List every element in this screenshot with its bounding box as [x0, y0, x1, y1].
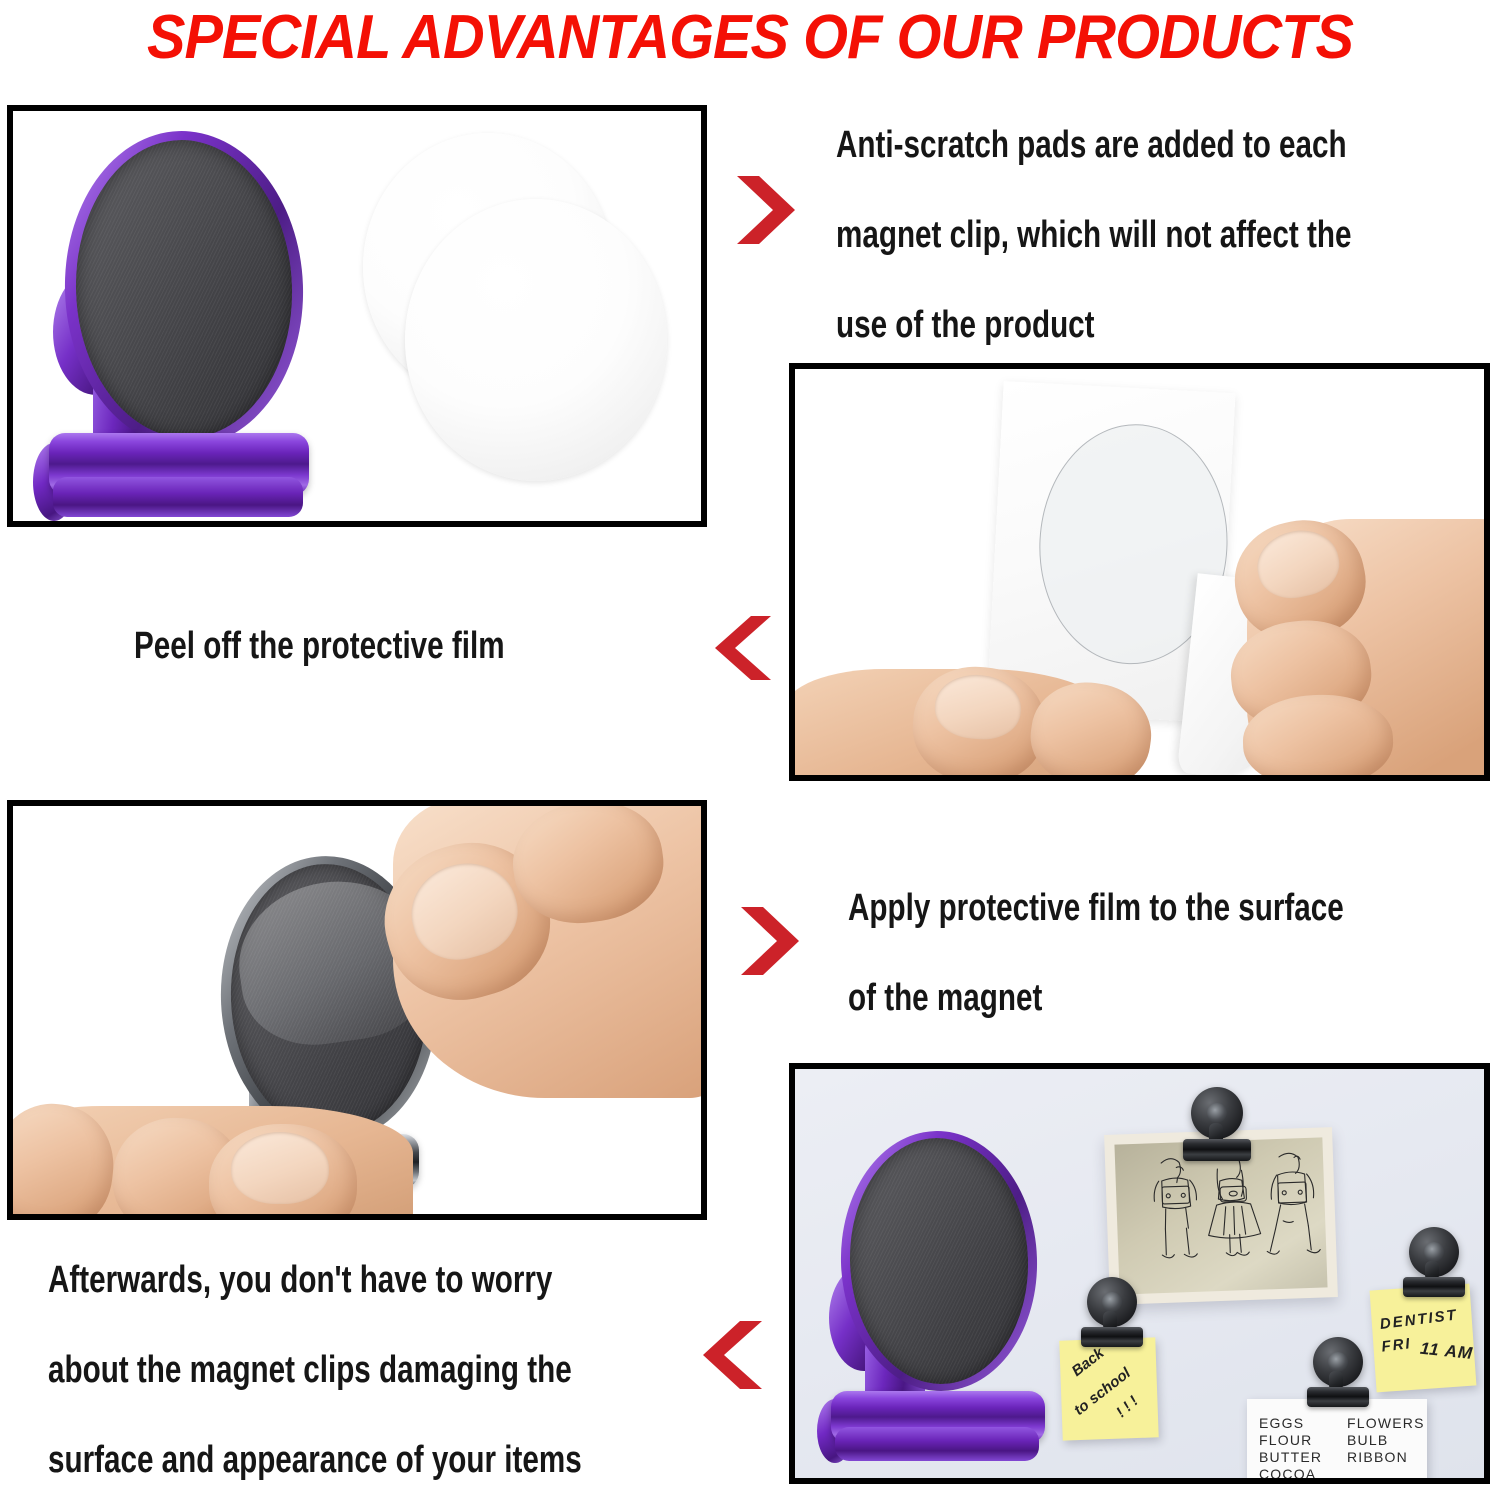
caption-step-2: Peel off the protective film — [134, 601, 758, 691]
photo-panel-step-2 — [789, 363, 1490, 781]
product-photo-clip-and-pads — [13, 111, 701, 521]
chevron-left-icon — [713, 612, 775, 684]
caption-line: Peel off the protective film — [134, 601, 758, 691]
shopping-list-item: COCOA — [1259, 1466, 1356, 1483]
product-photo-applying-film — [13, 806, 701, 1214]
caption-line: Apply protective film to the surface — [848, 863, 1500, 953]
caption-line: magnet clip, which will not affect the — [836, 190, 1500, 280]
caption-line: about the magnet clips damaging the — [48, 1325, 750, 1415]
photo-panel-step-4: DENTIST FRI 11 AM Back to school ! ! ! — [789, 1063, 1490, 1484]
shopping-list-item: BUTTER — [1259, 1449, 1356, 1466]
caption-line: Afterwards, you don't have to worry — [48, 1235, 750, 1325]
purple-magnet-clip — [31, 121, 341, 521]
school-line-3: ! ! ! — [1113, 1393, 1142, 1421]
fridge-door-scene: DENTIST FRI 11 AM Back to school ! ! ! — [795, 1069, 1484, 1478]
shopping-list-item: BULB — [1347, 1432, 1425, 1449]
photo-panel-step-1 — [7, 105, 707, 527]
product-photo-peeling-film — [795, 369, 1484, 775]
shopping-list-right-column: FLOWERSBULBRIBBON — [1347, 1415, 1425, 1466]
caption-step-3: Apply protective film to the surface of … — [848, 863, 1500, 1043]
black-clip-on-school-note — [1081, 1277, 1143, 1359]
photo-panel-step-3 — [7, 800, 707, 1220]
caption-step-1: Anti-scratch pads are added to each magn… — [836, 100, 1500, 370]
caption-line: use of the product — [836, 280, 1500, 370]
dentist-line-3: 11 AM — [1419, 1339, 1474, 1364]
anti-scratch-pad-front — [405, 199, 667, 481]
caption-step-4: Afterwards, you don't have to worry abou… — [48, 1235, 750, 1505]
shopping-list-item: FLOUR — [1259, 1432, 1356, 1449]
dentist-line-1: DENTIST — [1379, 1307, 1459, 1333]
purple-magnet-clip — [817, 1117, 1077, 1467]
page-title: SPECIAL ADVANTAGES OF OUR PRODUCTS — [53, 2, 1448, 74]
infographic-stage: SPECIAL ADVANTAGES OF OUR PRODUCTS — [0, 0, 1500, 1484]
caption-line: surface and appearance of your items — [48, 1415, 750, 1505]
shopping-list-item: RIBBON — [1347, 1449, 1425, 1466]
black-clip-on-shopping-list — [1307, 1337, 1369, 1419]
shopping-list-left-column: EGGSFLOURBUTTERCOCOACHOCOLATECREAMBREADC… — [1259, 1415, 1356, 1484]
caption-line: of the magnet — [848, 953, 1500, 1043]
caption-line: Anti-scratch pads are added to each — [836, 100, 1500, 190]
chevron-left-icon — [700, 1318, 766, 1392]
chevron-right-icon — [733, 172, 799, 248]
black-clip-on-dentist-note — [1403, 1227, 1465, 1309]
black-clip-on-photo — [1183, 1087, 1251, 1173]
chevron-right-icon — [737, 903, 803, 979]
dentist-line-2: FRI — [1381, 1335, 1413, 1356]
